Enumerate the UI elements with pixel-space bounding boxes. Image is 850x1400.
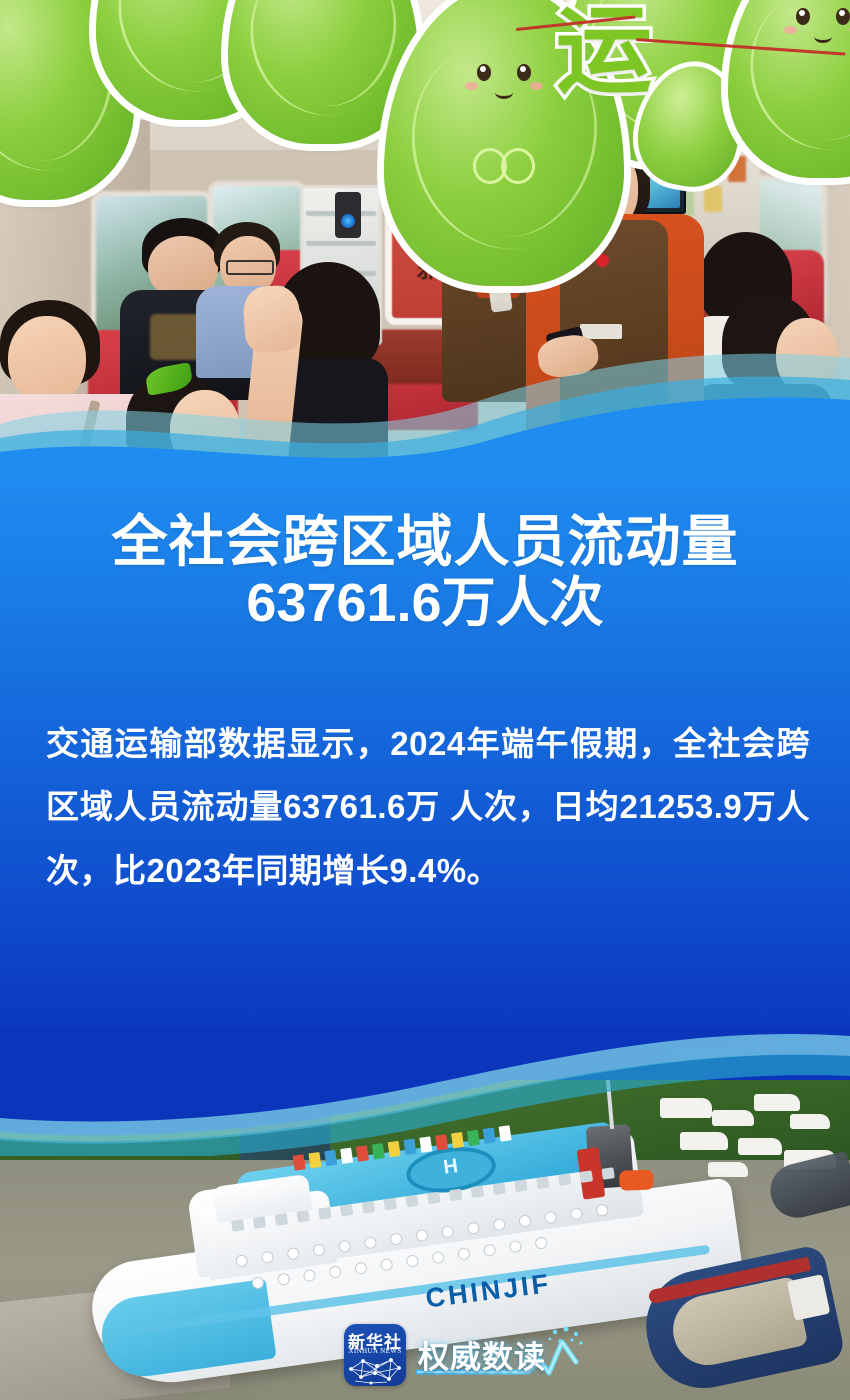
program-wordmark: 权威数读 <box>416 1326 591 1384</box>
wave-divider-top <box>0 352 850 482</box>
wave-divider-bottom <box>0 1026 850 1156</box>
zongzi-string-bow <box>473 148 535 192</box>
agency-name-en: XINHUA NEWS <box>344 1347 406 1355</box>
zongzi-face <box>788 8 850 48</box>
poster: 纳 福 祛 邪 <box>0 0 850 1400</box>
xinhua-news-logo: 新华社 XINHUA NEWS <box>344 1324 406 1386</box>
zongzi-face <box>469 64 539 104</box>
headline-line-1: 全社会跨区域人员流动量 <box>112 510 739 573</box>
body-paragraph: 交通运输部数据显示，2024年端午假期，全社会跨区域人员流动量63761.6万 … <box>46 712 810 902</box>
headline-line-2: 63761.6万人次 <box>0 573 850 634</box>
network-globe-icon <box>347 1355 403 1385</box>
portable-speaker <box>335 192 361 238</box>
raised-hand <box>242 284 302 354</box>
page-title: 全社会跨区域人员流动量 63761.6万人次 <box>0 510 850 634</box>
party-badge <box>596 254 609 267</box>
xinhua-logo-bar: 新华社 XINHUA NEWS <box>344 1324 591 1386</box>
program-name: 权威数读 <box>418 1332 546 1377</box>
